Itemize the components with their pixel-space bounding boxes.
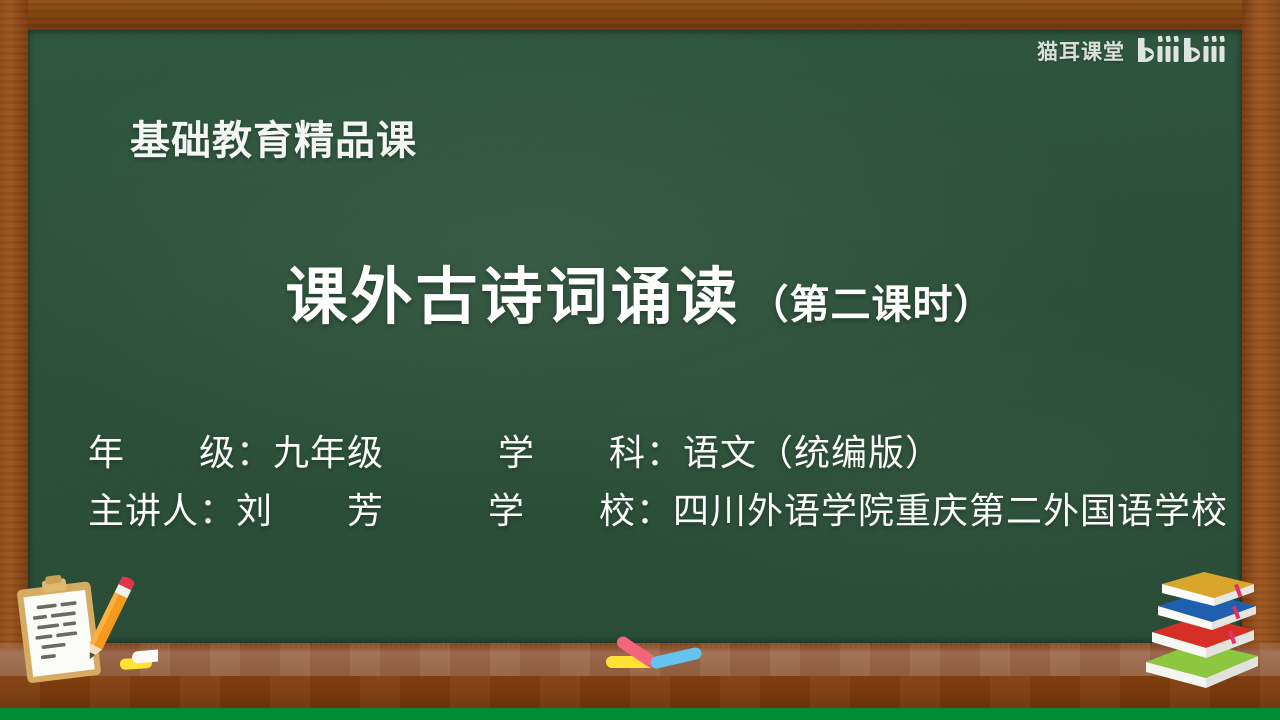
- lesson-metadata: 年 级：九年级 学 科：语文（统编版） 主讲人：刘 芳 学 校：四川外语学院重庆…: [88, 424, 1228, 540]
- school-field: 学 校：四川外语学院重庆第二外国语学校: [488, 482, 1228, 534]
- metadata-row: 主讲人：刘 芳 学 校：四川外语学院重庆第二外国语学校: [88, 482, 1228, 540]
- lecturer-field: 主讲人：刘 芳: [88, 482, 488, 534]
- page-title: 课外古诗词诵读: [285, 246, 740, 336]
- chalk-white: [132, 648, 158, 663]
- bilibili-logo-icon: [1136, 34, 1246, 68]
- page-subtitle-session: （第二课时）: [749, 272, 995, 330]
- chalk-pieces-illustration: [600, 632, 720, 678]
- frame-top-rail: [0, 0, 1280, 30]
- lesson-title-slide: 猫耳课堂: [0, 0, 1280, 720]
- main-title-row: 课外古诗词诵读 （第二课时）: [0, 246, 1280, 336]
- metadata-row: 年 级：九年级 学 科：语文（统编版）: [88, 424, 1228, 482]
- bottom-green-strip: [0, 708, 1280, 720]
- chalk-blue-center: [649, 646, 702, 669]
- subject-field: 学 科：语文（统编版）: [498, 424, 942, 476]
- kicker-heading: 基础教育精品课: [130, 108, 417, 166]
- grade-field: 年 级：九年级: [88, 424, 498, 476]
- watermark-channel-name: 猫耳课堂: [1037, 36, 1125, 66]
- chalk-ledge-front: [0, 676, 1280, 708]
- clipboard-illustration: [8, 572, 158, 692]
- book-stack-illustration: [1142, 570, 1262, 692]
- watermark: 猫耳课堂: [1037, 34, 1246, 68]
